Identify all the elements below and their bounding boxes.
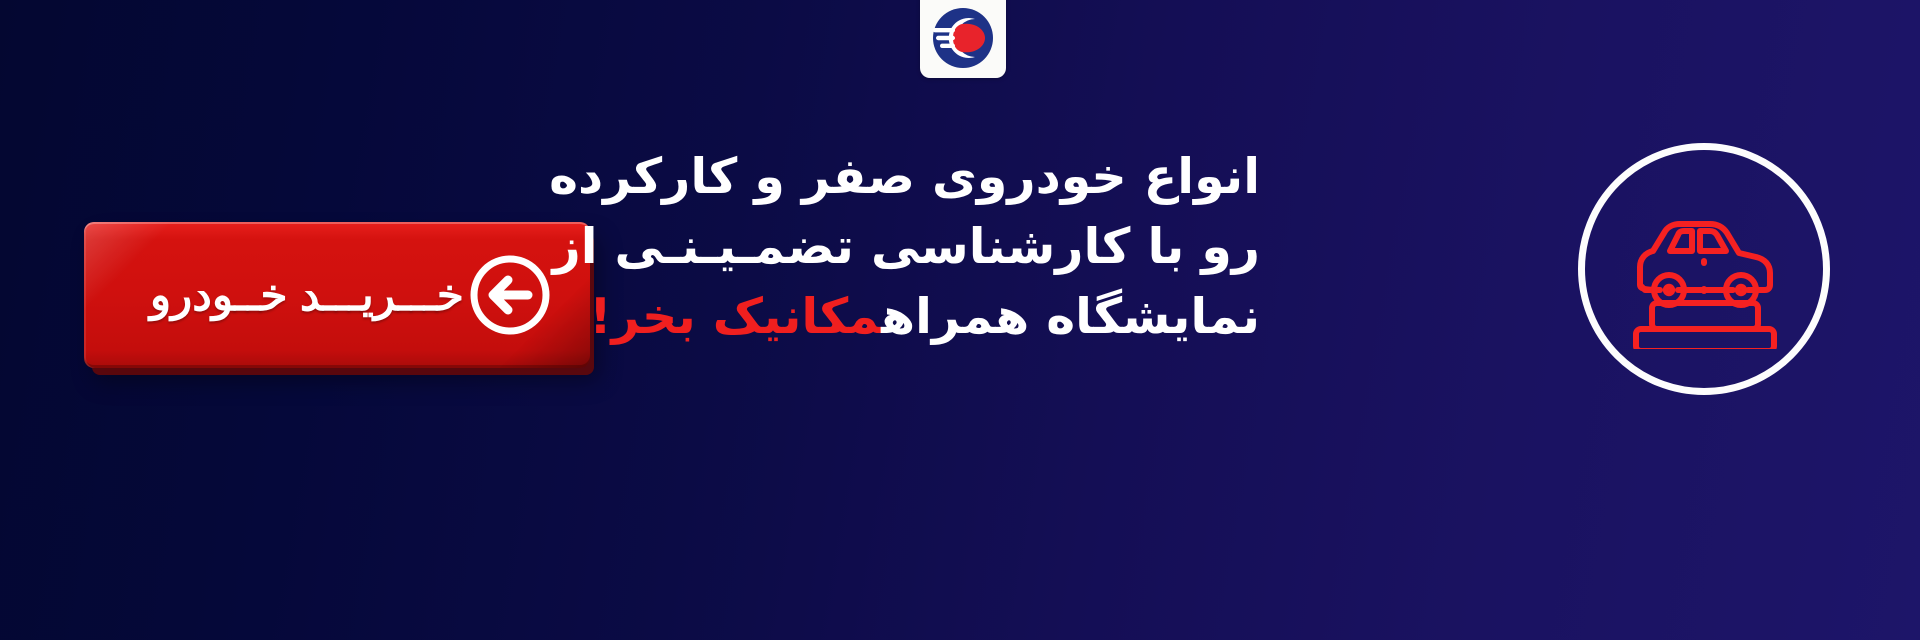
headline-line-3: نمایشگاه همراهمکانیک بخر! bbox=[640, 292, 1260, 342]
promo-banner: خـــریـــد خــودرو انواع خودروی صفر و کا… bbox=[0, 0, 1920, 640]
buy-car-button-label: خـــریـــد خــودرو bbox=[150, 270, 464, 321]
car-on-showroom-platform-icon bbox=[1618, 189, 1790, 349]
buy-car-button[interactable]: خـــریـــد خــودرو bbox=[84, 222, 590, 368]
headline: انواع خودروی صفر و کارکرده رو با کارشناس… bbox=[640, 152, 1260, 342]
headline-line-3-white: نمایشگاه همراه bbox=[881, 288, 1260, 345]
headline-line-1: انواع خودروی صفر و کارکرده bbox=[640, 152, 1260, 202]
headline-line-2: رو با کارشناسی تضمـیـنـی از bbox=[640, 222, 1260, 272]
company-logo-badge[interactable] bbox=[920, 0, 1006, 78]
logo-icon bbox=[931, 6, 995, 70]
arrow-left-circle-icon bbox=[464, 249, 556, 341]
headline-line-3-accent: مکانیک بخر! bbox=[589, 288, 881, 345]
showroom-medallion bbox=[1578, 143, 1830, 395]
